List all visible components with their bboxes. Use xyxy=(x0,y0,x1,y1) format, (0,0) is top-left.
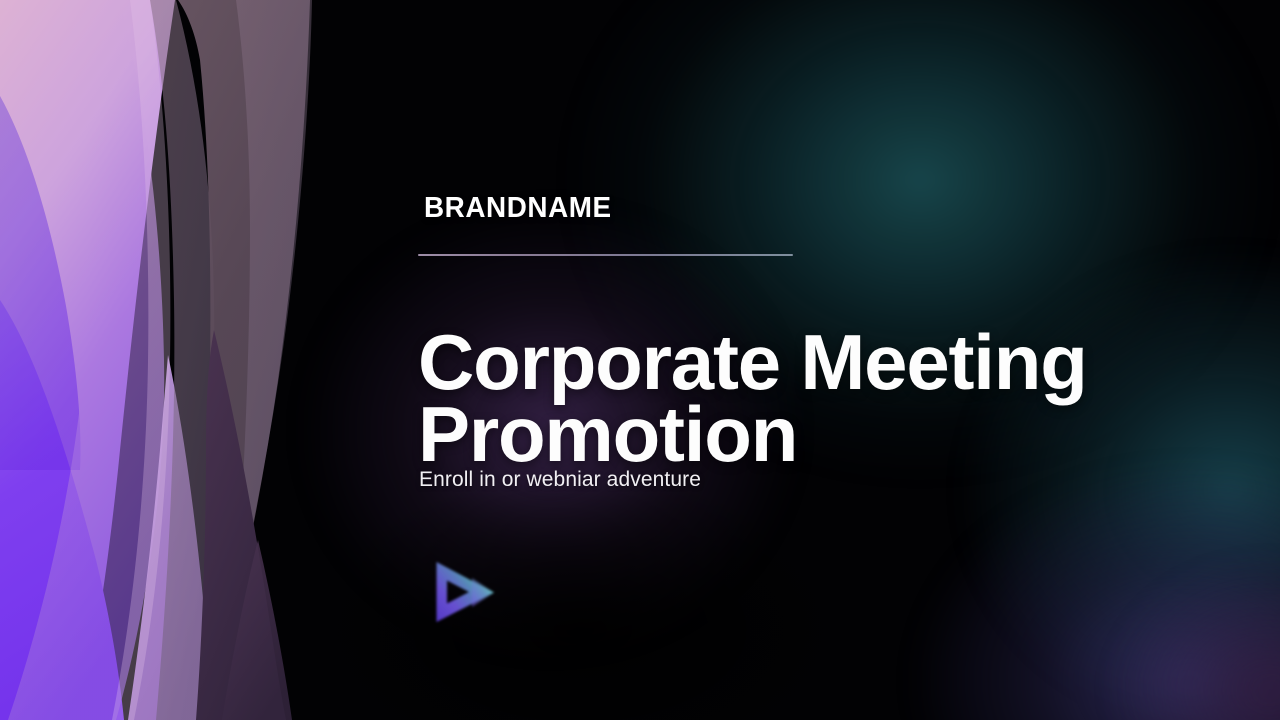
divider-line xyxy=(418,254,793,256)
promo-slide: BRANDNAME Corporate Meeting Promotion En… xyxy=(0,0,1280,720)
decorative-ribbon-panel xyxy=(0,0,330,720)
headline-line-2: Promotion xyxy=(418,398,1208,470)
page-title: Corporate Meeting Promotion xyxy=(418,326,1208,470)
headline-line-1: Corporate Meeting xyxy=(418,326,1208,398)
play-triangle-logo-icon[interactable] xyxy=(430,552,514,632)
subtitle-text: Enroll in or webniar adventure xyxy=(419,468,701,492)
slide-content: BRANDNAME Corporate Meeting Promotion En… xyxy=(418,0,1218,720)
brand-name: BRANDNAME xyxy=(424,192,612,225)
